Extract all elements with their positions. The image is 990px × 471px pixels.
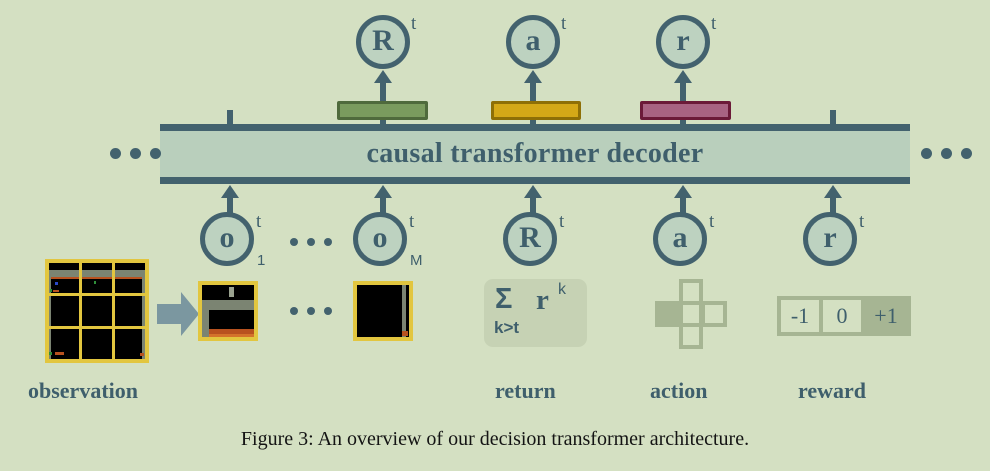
action-output-token: a t [506, 15, 560, 69]
return-output-token-glyph: R [372, 26, 394, 56]
reward-cell-zero: 0 [823, 300, 865, 332]
reward-output-arrow-head [674, 70, 692, 83]
return-output-token: R t [356, 15, 410, 69]
label-return: return [495, 378, 556, 404]
return-head-bar [337, 101, 428, 120]
input-token-ellipsis [290, 238, 332, 246]
observation-grid-cell [49, 263, 79, 293]
return-input-token-glyph: R [519, 223, 541, 253]
observation-grid-cell [115, 296, 145, 326]
observation-token-1-subscript: 1 [257, 253, 265, 268]
return-input-token-superscript: t [559, 212, 564, 231]
observation-grid-cell [82, 263, 112, 293]
dpad-left [655, 301, 681, 327]
obs1-input-arrow-head [221, 185, 239, 198]
reward-head-bar [640, 101, 731, 120]
observation-grid-cell [82, 296, 112, 326]
reward-output-token-glyph: r [676, 26, 689, 56]
observation-token-1-glyph: o [220, 223, 235, 253]
thumbnail-ellipsis [290, 307, 332, 315]
reward-cell-minus1: -1 [781, 300, 823, 332]
dpad-down [679, 323, 703, 349]
observation-grid-cell [115, 263, 145, 293]
obsm-input-arrow-head [374, 185, 392, 198]
return-condition: k>t [494, 318, 519, 338]
observation-token-1-superscript: t [256, 212, 261, 231]
reward-input-token: r t [803, 212, 857, 266]
action-output-token-glyph: a [526, 26, 541, 56]
observation-token-1: o t 1 [200, 212, 254, 266]
action-input-token: a t [653, 212, 707, 266]
observation-thumbnail-m [353, 281, 413, 341]
observation-thumbnail-1 [198, 281, 258, 341]
return-output-token-superscript: t [411, 14, 416, 33]
reward-output-token: r t [656, 15, 710, 69]
decoder-right-ellipsis [921, 148, 972, 159]
action-input-token-superscript: t [709, 212, 714, 231]
observation-frame-grid [45, 259, 149, 363]
dpad-right [701, 301, 727, 327]
reward-input-token-glyph: r [823, 223, 836, 253]
decoder-label: causal transformer decoder [367, 138, 704, 170]
label-reward: reward [798, 378, 866, 404]
return-term: r [536, 284, 549, 317]
figure-root: R t a t r t causal transformer decoder [0, 0, 990, 471]
return-input-arrow-head [524, 185, 542, 198]
reward-input-token-superscript: t [859, 212, 864, 231]
return-input-token: R t [503, 212, 557, 266]
action-head-bar [491, 101, 581, 120]
decoder-left-ellipsis [110, 148, 161, 159]
observation-token-m-glyph: o [373, 223, 388, 253]
causal-transformer-decoder: causal transformer decoder [160, 124, 910, 184]
observation-grid-cell [115, 329, 145, 359]
sigma-icon: Σ [495, 283, 512, 316]
observation-grid-cell [49, 296, 79, 326]
flow-arrow-icon [155, 290, 201, 338]
observation-token-m: o t M [353, 212, 407, 266]
observation-token-m-subscript: M [410, 253, 423, 268]
observation-grid-cell [82, 329, 112, 359]
action-output-arrow-head [524, 70, 542, 83]
reward-value-row: -1 0 +1 [777, 296, 911, 336]
action-dpad-icon [655, 279, 727, 349]
reward-output-token-superscript: t [711, 14, 716, 33]
return-exponent: k [558, 281, 566, 299]
return-expression-box: Σ r k k>t [484, 279, 587, 347]
action-input-token-glyph: a [673, 223, 688, 253]
observation-token-m-superscript: t [409, 212, 414, 231]
action-input-arrow-head [674, 185, 692, 198]
reward-cell-plus1: +1 [865, 300, 907, 332]
label-observation: observation [28, 378, 138, 404]
observation-grid-cell [49, 329, 79, 359]
figure-caption: Figure 3: An overview of our decision tr… [0, 428, 990, 451]
action-output-token-superscript: t [561, 14, 566, 33]
reward-input-arrow-head [824, 185, 842, 198]
return-output-arrow-head [374, 70, 392, 83]
label-action: action [650, 378, 707, 404]
